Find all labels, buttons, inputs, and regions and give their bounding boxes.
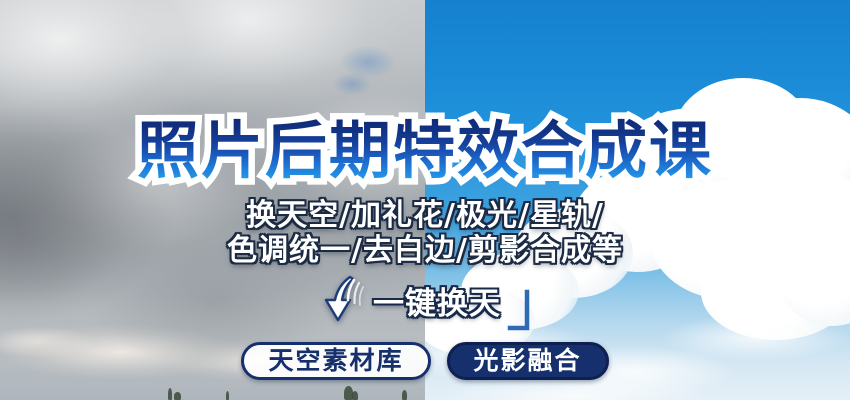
curved-down-arrow-icon [319, 274, 365, 326]
banner-subtitle: 换天空/加礼花/极光/星轨/ 色调统一/去白边/剪影合成等 [0, 198, 850, 269]
banner-title-fill: 照片后期特效合成课 [0, 116, 850, 186]
corner-bracket-icon [507, 286, 531, 334]
one-click-label: 一键换天 [373, 278, 501, 323]
badge-sky-library[interactable]: 天空素材库 [241, 342, 430, 380]
feature-badges: 天空素材库 光影融合 [0, 341, 850, 381]
banner-title: 照片后期特效合成课 照片后期特效合成课 [0, 116, 850, 186]
badge-sky-library-label: 天空素材库 [268, 344, 403, 378]
badge-light-shadow-blend-label: 光影融合 [474, 344, 582, 378]
subtitle-line-2: 色调统一/去白边/剪影合成等 [0, 234, 850, 268]
one-click-feature-row: 一键换天 [0, 272, 850, 328]
subtitle-line-1: 换天空/加礼花/极光/星轨/ [0, 199, 850, 233]
badge-light-shadow-blend[interactable]: 光影融合 [447, 342, 609, 380]
promo-banner: 照片后期特效合成课 照片后期特效合成课 换天空/加礼花/极光/星轨/ 色调统一/… [0, 0, 850, 400]
